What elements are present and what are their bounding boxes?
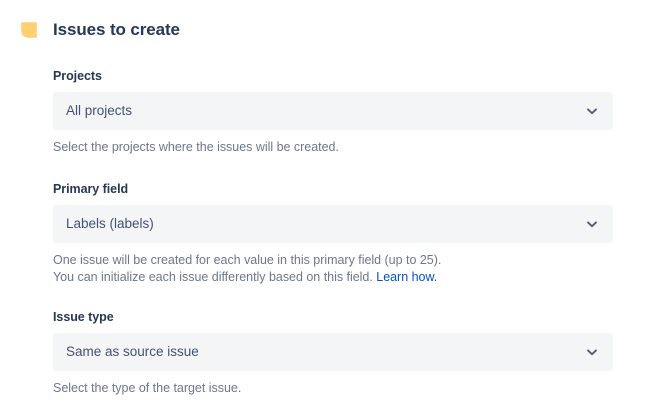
learn-how-link[interactable]: Learn how. <box>376 270 437 284</box>
field-group-issue-type: Issue type Same as source issue Select t… <box>53 309 613 397</box>
label-projects: Projects <box>53 68 613 84</box>
chevron-down-icon[interactable] <box>585 345 599 359</box>
chevron-down-icon[interactable] <box>585 104 599 118</box>
section-header: Issues to create <box>0 16 180 44</box>
issue-type-select-value: Same as source issue <box>54 343 199 361</box>
helper-line-with-link: You can initialize each issue differentl… <box>53 269 613 286</box>
field-group-primary-field: Primary field Labels (labels) One issue … <box>53 181 613 286</box>
label-issue-type: Issue type <box>53 309 613 325</box>
chevron-down-icon[interactable] <box>585 217 599 231</box>
helper-line: Select the type of the target issue. <box>53 380 613 397</box>
primary-field-select[interactable]: Labels (labels) <box>53 205 613 243</box>
pennant-icon <box>19 20 39 40</box>
issues-to-create-panel: Issues to create Projects All projects S… <box>0 0 651 416</box>
helper-text-issue-type: Select the type of the target issue. <box>53 380 613 397</box>
primary-field-select-value: Labels (labels) <box>54 215 154 233</box>
page-title: Issues to create <box>53 20 180 40</box>
helper-line: Select the projects where the issues wil… <box>53 139 613 156</box>
field-group-projects: Projects All projects Select the project… <box>53 68 613 156</box>
helper-text-primary-field: One issue will be created for each value… <box>53 252 613 286</box>
projects-select[interactable]: All projects <box>53 92 613 130</box>
helper-text-projects: Select the projects where the issues wil… <box>53 139 613 156</box>
projects-select-value: All projects <box>54 102 132 120</box>
issue-type-select[interactable]: Same as source issue <box>53 333 613 371</box>
label-primary-field: Primary field <box>53 181 613 197</box>
helper-line: One issue will be created for each value… <box>53 252 613 269</box>
helper-line-text: You can initialize each issue differentl… <box>53 270 376 284</box>
